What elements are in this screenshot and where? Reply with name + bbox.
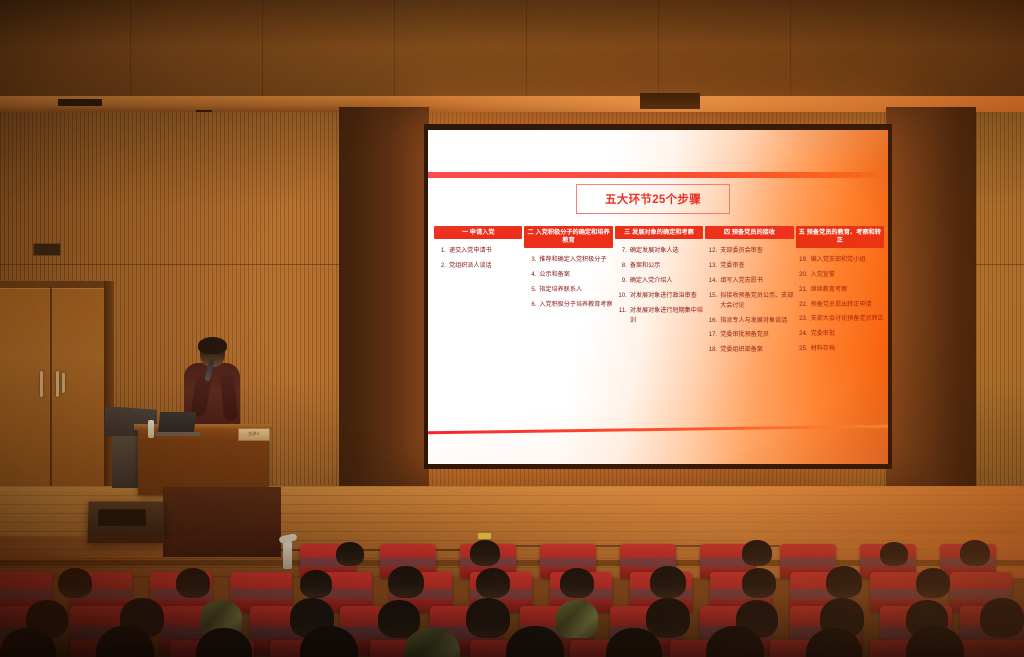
audience-area <box>0 536 1024 657</box>
speaker-hair <box>198 337 227 354</box>
column-list-3: 7.确定发展对象人选 8.备案和公示 9.确定入党介绍人 10.对发展对象进行政… <box>615 246 703 325</box>
slide-column-3: 三 发展对象的确定和考察 7.确定发展对象人选 8.备案和公示 9.确定入党介绍… <box>615 226 703 360</box>
list-item: 13.党委审查 <box>705 261 793 270</box>
item-text: 支部委员会审查 <box>720 246 793 255</box>
seat[interactable] <box>960 640 1024 657</box>
door-handle-right[interactable] <box>56 371 59 397</box>
audience-head <box>742 540 772 566</box>
column-list-1: 1.递交入党申请书 2.党组织派人谈话 <box>434 246 522 270</box>
item-number: 9. <box>615 276 627 285</box>
list-item: 7.确定发展对象人选 <box>615 246 703 255</box>
item-number: 1. <box>434 246 446 255</box>
exit-doors[interactable] <box>0 287 111 487</box>
item-number: 4. <box>524 270 536 279</box>
item-number: 7. <box>615 246 627 255</box>
door-handle-left[interactable] <box>40 371 43 397</box>
item-text: 支部大会讨论预备党员转正 <box>811 314 884 323</box>
column-header-4: 四 预备党员的接收 <box>705 226 793 239</box>
item-text: 递交入党申请书 <box>449 246 522 255</box>
audience-head <box>176 568 210 598</box>
auditorium-scene: 五大环节25个步骤 一 申请入党 1.递交入党申请书 2.党组织派人谈话 二 入… <box>0 0 1024 657</box>
list-item: 17.党委审批预备党员 <box>705 330 793 339</box>
item-number: 5. <box>524 285 536 294</box>
column-header-5: 五 预备党员的教育、考察和转正 <box>796 226 884 248</box>
list-item: 9.确定入党介绍人 <box>615 276 703 285</box>
item-number: 20. <box>796 270 808 279</box>
audience-head <box>742 568 776 598</box>
item-number: 2. <box>434 261 446 270</box>
item-number: 19. <box>796 255 808 264</box>
item-text: 入党宣誓 <box>811 270 884 279</box>
audience-head <box>826 566 862 598</box>
audience-head <box>980 598 1024 638</box>
list-item: 19.编入党支部和党小组 <box>796 255 884 264</box>
item-number: 24. <box>796 329 808 338</box>
slide-title-box: 五大环节25个步骤 <box>576 184 730 214</box>
item-text: 继续教育考察 <box>811 285 884 294</box>
item-text: 填写入党志愿书 <box>720 276 793 285</box>
nameplate-text: 主讲人 <box>239 429 269 439</box>
audience-head <box>916 568 950 598</box>
audience-head <box>300 570 332 598</box>
item-text: 确定发展对象人选 <box>630 246 703 255</box>
slide-column-5: 五 预备党员的教育、考察和转正 19.编入党支部和党小组 20.入党宣誓 21.… <box>796 226 884 360</box>
audience-head-camo <box>556 600 598 638</box>
item-number: 12. <box>705 246 717 255</box>
audience-head <box>388 566 424 598</box>
list-item: 24.党委审批 <box>796 329 884 338</box>
list-item: 5.指定培养联系人 <box>524 285 612 294</box>
item-number: 23. <box>796 314 808 323</box>
item-text: 党组织派人谈话 <box>449 261 522 270</box>
item-text: 对发展对象进行政治审查 <box>630 291 703 300</box>
item-text: 党委组织部备案 <box>720 345 793 354</box>
item-number: 6. <box>524 300 536 309</box>
column-list-5: 19.编入党支部和党小组 20.入党宣誓 21.继续教育考察 22.预备党员提出… <box>796 255 884 354</box>
audience-head <box>960 540 990 566</box>
column-list-4: 12.支部委员会审查 13.党委审查 14.填写入党志愿书 15.拟接收预备党员… <box>705 246 793 355</box>
item-text: 对发展对象进行短期集中培训 <box>630 306 703 325</box>
item-number: 11. <box>615 306 627 325</box>
item-text: 编入党支部和党小组 <box>811 255 884 264</box>
item-text: 指定培养联系人 <box>539 285 612 294</box>
upper-wall-panel <box>0 0 1024 103</box>
audience-head <box>476 568 510 598</box>
item-text: 备案和公示 <box>630 261 703 270</box>
column-header-1: 一 申请入党 <box>434 226 522 239</box>
list-item: 15.拟接收预备党员公示、支部大会讨论 <box>705 291 793 310</box>
item-text: 预备党员提出转正申请 <box>811 300 884 309</box>
audience-head <box>560 568 594 598</box>
list-item: 25.材料存档 <box>796 344 884 353</box>
audience-head <box>58 568 92 598</box>
item-number: 13. <box>705 261 717 270</box>
column-header-2: 二 入党积极分子的确定和培养教育 <box>524 226 612 248</box>
item-text: 拟接收预备党员公示、支部大会讨论 <box>720 291 793 310</box>
list-item: 20.入党宣誓 <box>796 270 884 279</box>
audience-head <box>880 542 908 566</box>
list-item: 11.对发展对象进行短期集中培训 <box>615 306 703 325</box>
item-text: 材料存档 <box>811 344 884 353</box>
list-item: 16.指派专人与发展对象谈话 <box>705 316 793 325</box>
list-item: 12.支部委员会审查 <box>705 246 793 255</box>
item-number: 17. <box>705 330 717 339</box>
list-item: 18.党委组织部备案 <box>705 345 793 354</box>
item-text: 指派专人与发展对象谈话 <box>720 316 793 325</box>
list-item: 10.对发展对象进行政治审查 <box>615 291 703 300</box>
item-text: 党委审批预备党员 <box>720 330 793 339</box>
slide-column-2: 二 入党积极分子的确定和培养教育 3.推荐和确定入党积极分子 4.公示和备案 5… <box>524 226 612 360</box>
list-item: 3.推荐和确定入党积极分子 <box>524 255 612 264</box>
list-item: 4.公示和备案 <box>524 270 612 279</box>
list-item: 14.填写入党志愿书 <box>705 276 793 285</box>
door-handle-right-2[interactable] <box>62 373 65 393</box>
item-text: 入党积极分子培养教育考察 <box>539 300 612 309</box>
list-item: 23.支部大会讨论预备党员转正 <box>796 314 884 323</box>
list-item: 6.入党积极分子培养教育考察 <box>524 300 612 309</box>
item-number: 3. <box>524 255 536 264</box>
audience-head <box>646 598 690 638</box>
audience-head <box>470 540 500 566</box>
column-header-3: 三 发展对象的确定和考察 <box>615 226 703 239</box>
item-number: 14. <box>705 276 717 285</box>
nameplate: 主讲人 <box>238 428 270 441</box>
item-text: 党委审批 <box>811 329 884 338</box>
column-list-2: 3.推荐和确定入党积极分子 4.公示和备案 5.指定培养联系人 6.入党积极分子… <box>524 255 612 309</box>
item-text: 公示和备案 <box>539 270 612 279</box>
stage-curtain-right <box>886 107 976 490</box>
laptop-keyboard <box>156 432 201 436</box>
item-number: 16. <box>705 316 717 325</box>
item-text: 确定入党介绍人 <box>630 276 703 285</box>
water-bottle-on-table <box>148 420 154 438</box>
speaker-grill <box>98 509 146 526</box>
wall-plaque <box>33 243 61 256</box>
slide-column-4: 四 预备党员的接收 12.支部委员会审查 13.党委审查 14.填写入党志愿书 … <box>705 226 793 360</box>
list-item: 2.党组织派人谈话 <box>434 261 522 270</box>
list-item: 22.预备党员提出转正申请 <box>796 300 884 309</box>
slide-title: 五大环节25个步骤 <box>605 191 701 207</box>
item-number: 21. <box>796 285 808 294</box>
list-item: 1.递交入党申请书 <box>434 246 522 255</box>
item-number: 25. <box>796 344 808 353</box>
item-number: 22. <box>796 300 808 309</box>
ceiling-vent-center <box>640 93 700 109</box>
slide-rule-top <box>428 172 888 178</box>
audience-head <box>466 598 510 638</box>
slide-rule-bottom <box>428 425 888 434</box>
item-text: 推荐和确定入党积极分子 <box>539 255 612 264</box>
laptop-screen <box>158 412 196 434</box>
item-text: 党委审查 <box>720 261 793 270</box>
slide-columns: 一 申请入党 1.递交入党申请书 2.党组织派人谈话 二 入党积极分子的确定和培… <box>434 226 884 360</box>
ceiling-vent-left <box>58 99 102 106</box>
item-number: 18. <box>705 345 717 354</box>
projection-screen: 五大环节25个步骤 一 申请入党 1.递交入党申请书 2.党组织派人谈话 二 入… <box>428 130 888 464</box>
item-number: 10. <box>615 291 627 300</box>
slide-column-1: 一 申请入党 1.递交入党申请书 2.党组织派人谈话 <box>434 226 522 360</box>
item-number: 8. <box>615 261 627 270</box>
stage-curtain-left <box>339 107 429 490</box>
list-item: 21.继续教育考察 <box>796 285 884 294</box>
audience-head <box>336 542 364 566</box>
item-number: 15. <box>705 291 717 310</box>
audience-head <box>650 566 686 598</box>
list-item: 8.备案和公示 <box>615 261 703 270</box>
